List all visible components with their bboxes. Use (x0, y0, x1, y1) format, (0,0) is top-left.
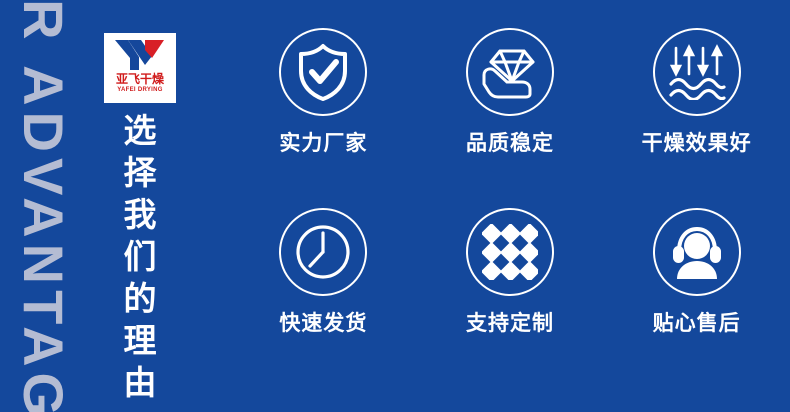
diamond-in-hand-icon (480, 44, 540, 100)
feature-label: 支持定制 (466, 313, 554, 334)
feature-fast-shipping: 快速发货 (230, 208, 417, 388)
advantages-banner: OUR ADVANTAGES 亚飞干燥 YAFEI DRYING 选 择 我 们… (0, 0, 790, 412)
vertical-headline-text: OUR ADVANTAGES (15, 0, 71, 412)
logo-english-name: YAFEI DRYING (117, 86, 163, 94)
vertical-headline-container: OUR ADVANTAGES (0, 0, 86, 412)
icon-circle (279, 208, 367, 296)
slogan-char: 选 (110, 110, 170, 152)
slogan-char: 们 (110, 236, 170, 278)
icon-circle (466, 28, 554, 116)
feature-good-drying-effect: 干燥效果好 (603, 28, 790, 208)
feature-label: 贴心售后 (653, 313, 741, 334)
drying-arrows-waves-icon (668, 44, 726, 100)
vertical-slogan: 选 择 我 们 的 理 由 (110, 110, 170, 404)
feature-label: 品质稳定 (466, 133, 554, 154)
feature-stable-quality: 品质稳定 (417, 28, 604, 208)
icon-circle (466, 208, 554, 296)
feature-label: 干燥效果好 (642, 133, 752, 154)
feature-grid: 实力厂家 品质稳定 (230, 28, 790, 388)
feature-customization-support: 支持定制 (417, 208, 604, 388)
diamond-grid-icon (482, 224, 538, 280)
icon-circle (653, 28, 741, 116)
company-logo: 亚飞干燥 YAFEI DRYING (104, 33, 176, 103)
slogan-char: 由 (110, 362, 170, 404)
y-letter-mark-icon (112, 38, 168, 72)
icon-circle (653, 208, 741, 296)
logo-chinese-name: 亚飞干燥 (116, 73, 164, 86)
headset-agent-icon (668, 225, 726, 279)
clock-icon (294, 223, 352, 281)
feature-after-sales-service: 贴心售后 (603, 208, 790, 388)
feature-label: 实力厂家 (279, 133, 367, 154)
feature-label: 快速发货 (279, 313, 367, 334)
feature-strong-factory: 实力厂家 (230, 28, 417, 208)
slogan-char: 择 (110, 152, 170, 194)
slogan-char: 理 (110, 320, 170, 362)
slogan-char: 的 (110, 278, 170, 320)
shield-check-icon (296, 43, 350, 101)
icon-circle (279, 28, 367, 116)
slogan-char: 我 (110, 194, 170, 236)
